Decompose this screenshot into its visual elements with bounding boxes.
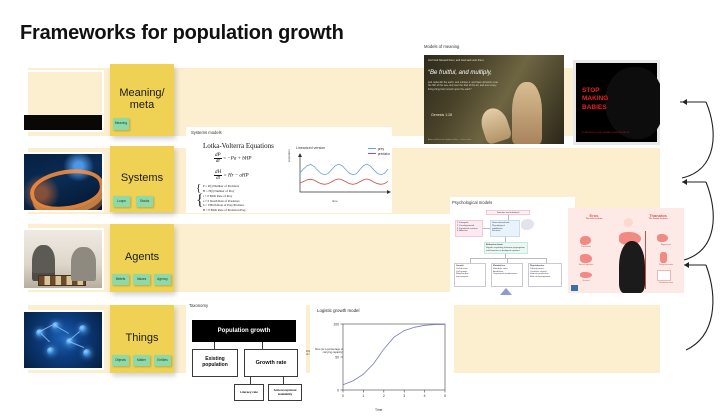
sticky-label-meaning-line2: meta <box>130 99 154 111</box>
logistic-chart-title: Logistic growth model <box>317 308 359 313</box>
logistic-chart-plot: 050100012345 <box>313 318 453 408</box>
triangle-marker-icon <box>500 288 512 295</box>
feedback-arrows-group <box>660 60 720 390</box>
genesis-verse-footer: Adam and Eve in the Garden of Eden — oil… <box>428 139 560 141</box>
svg-text:5: 5 <box>444 394 446 398</box>
psy-endocrine-text: Signals regulating hormone propagation a… <box>486 247 526 253</box>
caption-taxonomy: Taxonomy <box>189 303 208 308</box>
logistic-growth-chart: Logistic growth model Size (as a percent… <box>313 308 453 412</box>
eq1-denominator: dt <box>214 159 222 164</box>
logistic-chart-xlabel: Time <box>375 408 382 412</box>
source-badge <box>571 285 578 291</box>
eros-item-0: Procreation <box>574 246 598 248</box>
genesis-verse-body: and replenish the earth, and subdue it: … <box>428 81 501 91</box>
sub-note-agents-2[interactable]: Agency <box>154 274 171 285</box>
genesis-verse-reference: Genesis 1:28 <box>431 113 452 117</box>
psy-endocrine-box: Endocrine brain Signals regulating hormo… <box>484 242 528 254</box>
taxonomy-root-node: Population growth <box>192 320 296 342</box>
sub-note-systems-1[interactable]: Stocks <box>136 196 153 207</box>
lotka-volterra-definitions-lower: r > 0 Birth Rate of Prey a > 0 Death Rat… <box>203 194 246 213</box>
caption-psychological-models: Psychological models <box>452 200 492 205</box>
svg-text:0: 0 <box>337 389 339 393</box>
poster-subtext: A CAMPAIGN TO END HUMAN OVERPOPULATION <box>582 132 629 134</box>
eq2-rhs: = Hr − aHP <box>223 174 248 179</box>
taxonomy-node-growth-rate: Growth rate <box>244 349 298 377</box>
psy-connector-4 <box>505 254 506 258</box>
chess-board <box>38 275 86 285</box>
svg-text:3: 3 <box>403 394 405 398</box>
sub-note-meaning-0[interactable]: Meaning <box>113 118 129 130</box>
poster-line-2: MAKING <box>582 95 608 102</box>
poster-inner: STOP MAKING BABIES A CAMPAIGN TO END HUM… <box>576 63 657 142</box>
eq1-rhs: = −Pa + bHP <box>223 157 252 162</box>
psy-reproduction-box: Reproduction Puberty onset Ovulation con… <box>528 263 562 287</box>
psy-growth-box: Growth Cell division Cell growth Mitocho… <box>454 263 486 287</box>
sub-note-things-1[interactable]: Matter <box>133 355 150 366</box>
svg-text:0: 0 <box>342 394 344 398</box>
genesis-painting-image: And God blessed them, and God said unto … <box>424 55 564 144</box>
sub-note-things-2[interactable]: Entities <box>154 355 171 366</box>
poster-line-1: STOP <box>582 87 600 94</box>
sunset-clouds-photo <box>22 70 104 132</box>
sub-note-agents-0[interactable]: Beliefs <box>112 274 129 285</box>
lv-def-1: H = H(t) Number of Prey <box>203 189 239 194</box>
lv-def-0: P = P(t) Number of Predators <box>203 184 239 189</box>
svg-text:50: 50 <box>335 356 339 360</box>
svg-text:100: 100 <box>333 323 339 327</box>
sticky-label-systems: Systems <box>117 173 167 185</box>
chess-players-photo <box>22 228 104 290</box>
psy-metabolism-box: Metabolism Metabolic rates Anabolism Org… <box>491 263 523 287</box>
feedback-arrow-2 <box>684 182 713 260</box>
feedback-arrow-1 <box>682 102 713 178</box>
caption-systems-models: Systems models <box>191 130 222 135</box>
robed-figure-illustration <box>619 241 645 293</box>
light-trails-photo <box>22 152 104 212</box>
sub-note-things-0[interactable]: Objects <box>112 355 129 366</box>
lv-def-5: B > 0 Birth Rate of Predators/Prey <box>203 208 246 213</box>
sticky-label-meaning-line1: Meaning/ <box>119 87 164 99</box>
svg-text:2: 2 <box>383 394 385 398</box>
page-title: Frameworks for population growth <box>20 22 344 45</box>
linearized-chart-plot <box>288 150 392 200</box>
poster-text: STOP MAKING BABIES <box>582 87 608 113</box>
lotka-volterra-definitions-upper: P = P(t) Number of Predators H = H(t) Nu… <box>203 184 239 193</box>
taxonomy-edge-3 <box>250 377 251 384</box>
psy-reproduction-item-3: Rate of development <box>530 276 560 279</box>
psy-connector-2 <box>483 228 490 229</box>
eros-icon-procreation <box>580 236 591 245</box>
feedback-arrow-3 <box>686 265 713 350</box>
sub-note-agents-1[interactable]: Values <box>133 274 150 285</box>
legend-swatch-prey <box>368 148 376 149</box>
slide-canvas: Frameworks for population growth Meaning… <box>0 0 720 417</box>
eq2-denominator: dt <box>214 176 222 181</box>
psy-center-box: Unmet drive/need Physiological equilibri… <box>490 220 520 237</box>
eros-item-2: Survival <box>574 280 598 282</box>
psy-metabolism-item-2: Organismal maintenance <box>493 273 521 276</box>
taxonomy-edge-4 <box>283 377 284 384</box>
genesis-verse-main: “Be fruitful, and multiply, <box>428 70 492 76</box>
stop-making-babies-poster: STOP MAKING BABIES A CAMPAIGN TO END HUM… <box>573 60 660 145</box>
sun-icon <box>624 218 633 227</box>
sticky-label-agents: Agents <box>121 252 163 264</box>
psy-left-item-3: 4. Affective <box>457 230 481 233</box>
molecule-network-photo <box>22 310 104 370</box>
svg-text:4: 4 <box>424 394 426 398</box>
taxonomy-edge-2 <box>262 342 263 349</box>
lotka-volterra-equation-2: dH dt = Hr − aHP <box>214 170 249 181</box>
baby-silhouette-icon <box>605 67 660 139</box>
eros-item-1: Sexual impulses <box>574 264 598 266</box>
caption-models-of-meaning: Models of meaning <box>424 44 459 49</box>
eros-subtitle: The Life Instinct <box>574 218 614 220</box>
psy-connector-bus <box>470 258 546 259</box>
sticky-label-things: Things <box>121 333 162 345</box>
lotka-volterra-equation-1: dP dt = −Pa + bHP <box>214 153 251 164</box>
eros-icon-sexual <box>580 254 592 263</box>
sub-note-systems-0[interactable]: Loops <box>113 196 130 207</box>
psy-growth-item-3: Ion transport <box>456 276 484 279</box>
svg-text:1: 1 <box>362 394 364 398</box>
taxonomy-node-literacy-rate: Literacy rate <box>234 384 264 401</box>
taxonomy-node-anticonceptional: Anticonceptional availability <box>268 384 302 401</box>
taxonomy-node-existing-population: Existing population <box>192 349 238 377</box>
psy-left-box: 1. Energetic 2. Developmental 3. Emotion… <box>455 220 483 237</box>
genesis-verse-top: And God blessed them, and God said unto … <box>428 59 560 62</box>
psy-center-item-3: Decision <box>492 230 518 233</box>
poster-line-3: BABIES <box>582 104 607 111</box>
linearized-version-chart: Linearized version prey predator populat… <box>288 146 392 202</box>
lotka-volterra-title: Lotka-Volterra Equations <box>203 142 274 150</box>
taxonomy-edge-1 <box>214 342 215 349</box>
staff-icon <box>645 231 646 289</box>
eros-icon-survival <box>580 272 592 278</box>
painting-figure-adam <box>512 82 542 144</box>
